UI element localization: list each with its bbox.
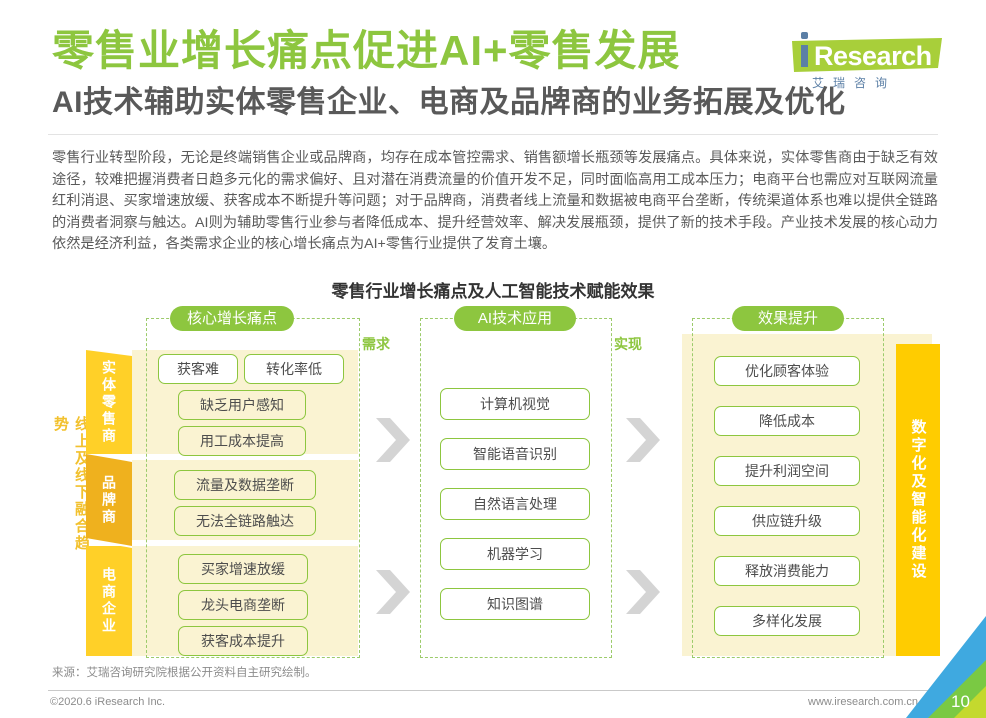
logo-i-dot-icon [801, 32, 808, 39]
panel-badge-effects: 效果提升 [732, 306, 844, 331]
figure-diagram: 线上及线下融合趋势 实体零售商 品牌商 电商企业 核心增 [46, 308, 942, 656]
footer-divider [48, 690, 938, 691]
iresearch-logo: Research 艾瑞咨询 [792, 28, 952, 90]
flow-label-demand: 需求 [362, 334, 390, 354]
page-number: 10 [951, 692, 970, 712]
chip-pain-4[interactable]: 流量及数据垄断 [174, 470, 316, 500]
footer-copyright: ©2020.6 iResearch Inc. [50, 696, 165, 708]
chip-pain-1[interactable]: 转化率低 [244, 354, 344, 384]
chip-ai-0[interactable]: 计算机视觉 [440, 388, 590, 420]
chevron-right-icon [626, 570, 660, 614]
page-subtitle: AI技术辅助实体零售企业、电商及品牌商的业务拓展及优化 [52, 88, 846, 118]
chip-effect-0[interactable]: 优化顾客体验 [714, 356, 860, 386]
chip-effect-1[interactable]: 降低成本 [714, 406, 860, 436]
segment-label-0: 实体零售商 [86, 350, 132, 454]
chip-pain-0[interactable]: 获客难 [158, 354, 238, 384]
panel-badge-pain-points: 核心增长痛点 [170, 306, 294, 331]
chip-pain-2[interactable]: 缺乏用户感知 [178, 390, 306, 420]
chip-effect-2[interactable]: 提升利润空间 [714, 456, 860, 486]
chip-pain-3[interactable]: 用工成本提高 [178, 426, 306, 456]
segment-label-2: 电商企业 [86, 546, 132, 656]
chip-pain-6[interactable]: 买家增速放缓 [178, 554, 308, 584]
segment-strip-0: 实体零售商 [86, 350, 132, 454]
segment-label-1: 品牌商 [86, 454, 132, 546]
flow-label-realize: 实现 [614, 334, 642, 354]
chevron-right-icon [376, 570, 410, 614]
chip-effect-3[interactable]: 供应链升级 [714, 506, 860, 536]
body-paragraph: 零售行业转型阶段，无论是终端销售企业或品牌商，均存在成本管控需求、销售额增长瓶颈… [52, 148, 938, 256]
page-title: 零售业增长痛点促进AI+零售发展 [52, 30, 681, 72]
chip-ai-2[interactable]: 自然语言处理 [440, 488, 590, 520]
logo-chinese-name: 艾瑞咨询 [812, 74, 896, 91]
logo-wordmark: Research [814, 40, 932, 72]
chip-ai-1[interactable]: 智能语音识别 [440, 438, 590, 470]
chip-effect-4[interactable]: 释放消费能力 [714, 556, 860, 586]
figure-title: 零售行业增长痛点及人工智能技术赋能效果 [0, 277, 986, 302]
chip-effect-5[interactable]: 多样化发展 [714, 606, 860, 636]
chip-pain-5[interactable]: 无法全链路触达 [174, 506, 316, 536]
header-divider [48, 134, 938, 135]
segment-strip-1: 品牌商 [86, 454, 132, 546]
chip-pain-7[interactable]: 龙头电商垄断 [178, 590, 308, 620]
logo-i-stem-icon [801, 45, 808, 67]
segment-strip-2: 电商企业 [86, 546, 132, 656]
panel-badge-ai-tech: AI技术应用 [454, 306, 576, 331]
chip-ai-4[interactable]: 知识图谱 [440, 588, 590, 620]
source-note: 来源：艾瑞咨询研究院根据公开资料自主研究绘制。 [52, 664, 317, 680]
chip-pain-8[interactable]: 获客成本提升 [178, 626, 308, 656]
chip-ai-3[interactable]: 机器学习 [440, 538, 590, 570]
chevron-right-icon [376, 418, 410, 462]
slide-page: 零售业增长痛点促进AI+零售发展 AI技术辅助实体零售企业、电商及品牌商的业务拓… [0, 0, 986, 718]
chevron-right-icon [626, 418, 660, 462]
